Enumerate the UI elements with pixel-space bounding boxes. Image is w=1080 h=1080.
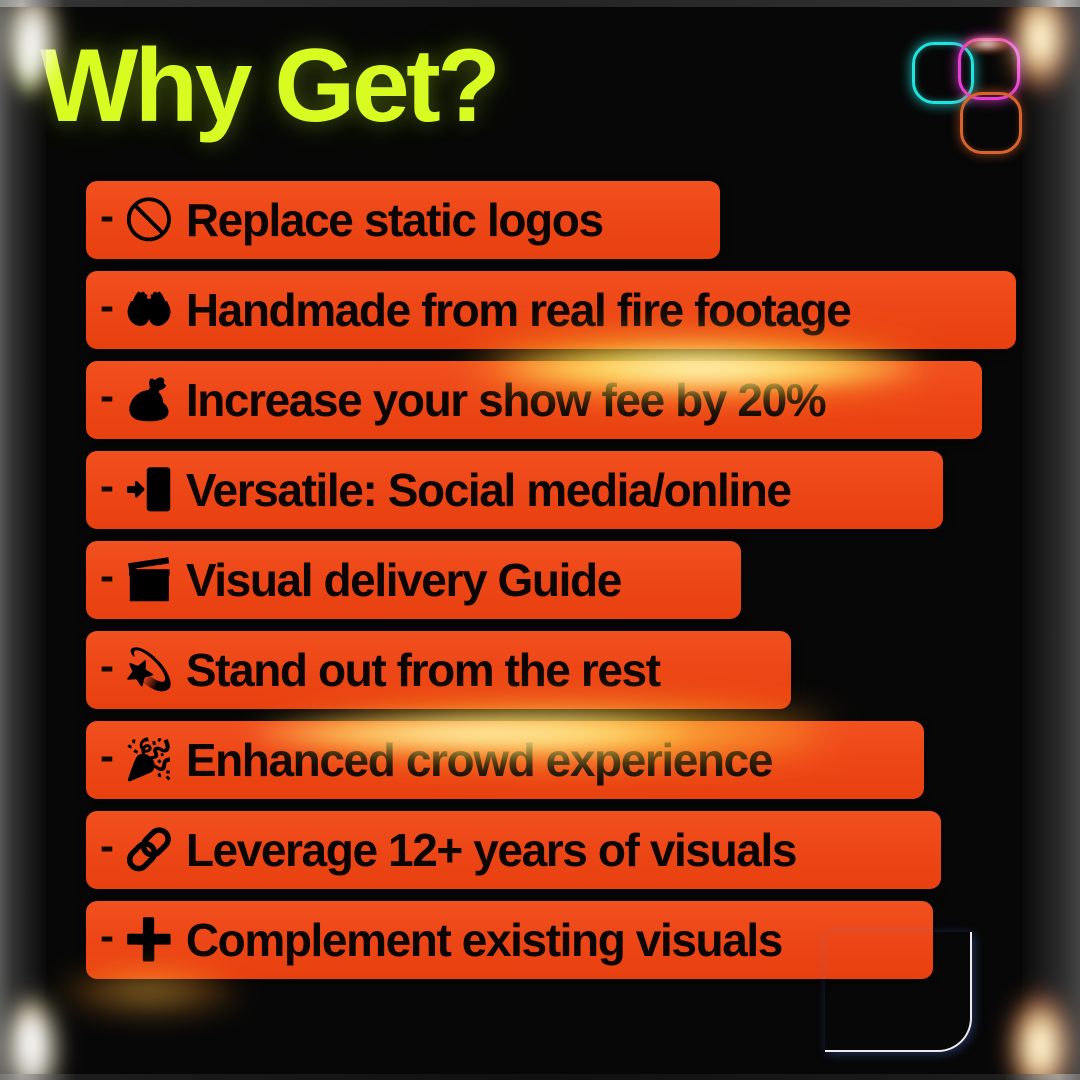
list-item-bar[interactable]: -🚫Replace static logos (86, 181, 720, 259)
list-bullet-dash: - (100, 735, 114, 777)
list-bullet-dash: - (100, 375, 114, 417)
glowing-star-icon: 💫 (124, 650, 174, 690)
list-bullet-dash: - (100, 645, 114, 687)
list-item-bar[interactable]: -➕Complement existing visuals (86, 901, 933, 979)
list-bullet-dash: - (100, 465, 114, 507)
chromatic-streak-top-left (16, 30, 42, 100)
list-item[interactable]: -🎬Visual delivery Guide (0, 541, 1080, 625)
chromatic-streak-bottom-left (18, 1002, 42, 1064)
plus-icon: ➕ (124, 920, 174, 960)
list-item-bar[interactable]: -🤲Handmade from real fire footage (86, 271, 1016, 349)
list-item-label: Visual delivery Guide (186, 557, 621, 603)
list-item-label: Enhanced crowd experience (186, 737, 772, 783)
list-item[interactable]: -🚫Replace static logos (0, 181, 1080, 265)
list-item-label: Increase your show fee by 20% (186, 377, 825, 423)
open-hands-icon: 🤲 (124, 290, 174, 330)
list-item[interactable]: -🔗Leverage 12+ years of visuals (0, 811, 1080, 895)
list-item-label: Versatile: Social media/online (186, 467, 791, 513)
list-item-bar[interactable]: -🎬Visual delivery Guide (86, 541, 741, 619)
list-item[interactable]: -🎉Enhanced crowd experience (0, 721, 1080, 805)
list-item-bar[interactable]: -🔗Leverage 12+ years of visuals (86, 811, 941, 889)
list-item-bar[interactable]: -🎉Enhanced crowd experience (86, 721, 924, 799)
list-bullet-dash: - (100, 555, 114, 597)
frame-bottom-edge (0, 1074, 1080, 1080)
slide-canvas: Why Get? -🚫Replace static logos-🤲Handmad… (0, 0, 1080, 1080)
list-item-label: Leverage 12+ years of visuals (186, 827, 796, 873)
list-item-label: Replace static logos (186, 197, 603, 243)
link-icon: 🔗 (124, 830, 174, 870)
list-bullet-dash: - (100, 285, 114, 327)
benefits-list: -🚫Replace static logos-🤲Handmade from re… (0, 181, 1080, 991)
list-item[interactable]: -💰Increase your show fee by 20% (0, 361, 1080, 445)
logo-highlight (964, 36, 1010, 52)
left-edge-gradient (0, 0, 46, 1080)
list-bullet-dash: - (100, 915, 114, 957)
clapper-board-icon: 🎬 (124, 560, 174, 600)
corner-bracket-line (825, 932, 972, 1052)
party-popper-icon: 🎉 (124, 740, 174, 780)
list-item[interactable]: -💫Stand out from the rest (0, 631, 1080, 715)
money-bag-icon: 💰 (124, 380, 174, 420)
list-item-label: Handmade from real fire footage (186, 287, 851, 333)
list-item[interactable]: -🤲Handmade from real fire footage (0, 271, 1080, 355)
list-item[interactable]: -📲Versatile: Social media/online (0, 451, 1080, 535)
list-bullet-dash: - (100, 195, 114, 237)
list-item-bar[interactable]: -💫Stand out from the rest (86, 631, 791, 709)
prohibited-icon: 🚫 (124, 200, 174, 240)
list-bullet-dash: - (100, 825, 114, 867)
list-item-bar[interactable]: -📲Versatile: Social media/online (86, 451, 943, 529)
mobile-arrow-icon: 📲 (124, 470, 174, 510)
list-item-label: Complement existing visuals (186, 917, 782, 963)
list-item-bar[interactable]: -💰Increase your show fee by 20% (86, 361, 982, 439)
logo-ring-orange-icon (960, 92, 1022, 154)
list-item-label: Stand out from the rest (186, 647, 660, 693)
right-edge-gradient (1022, 0, 1080, 1080)
frame-top-edge (0, 0, 1080, 7)
page-title: Why Get? (40, 34, 497, 138)
